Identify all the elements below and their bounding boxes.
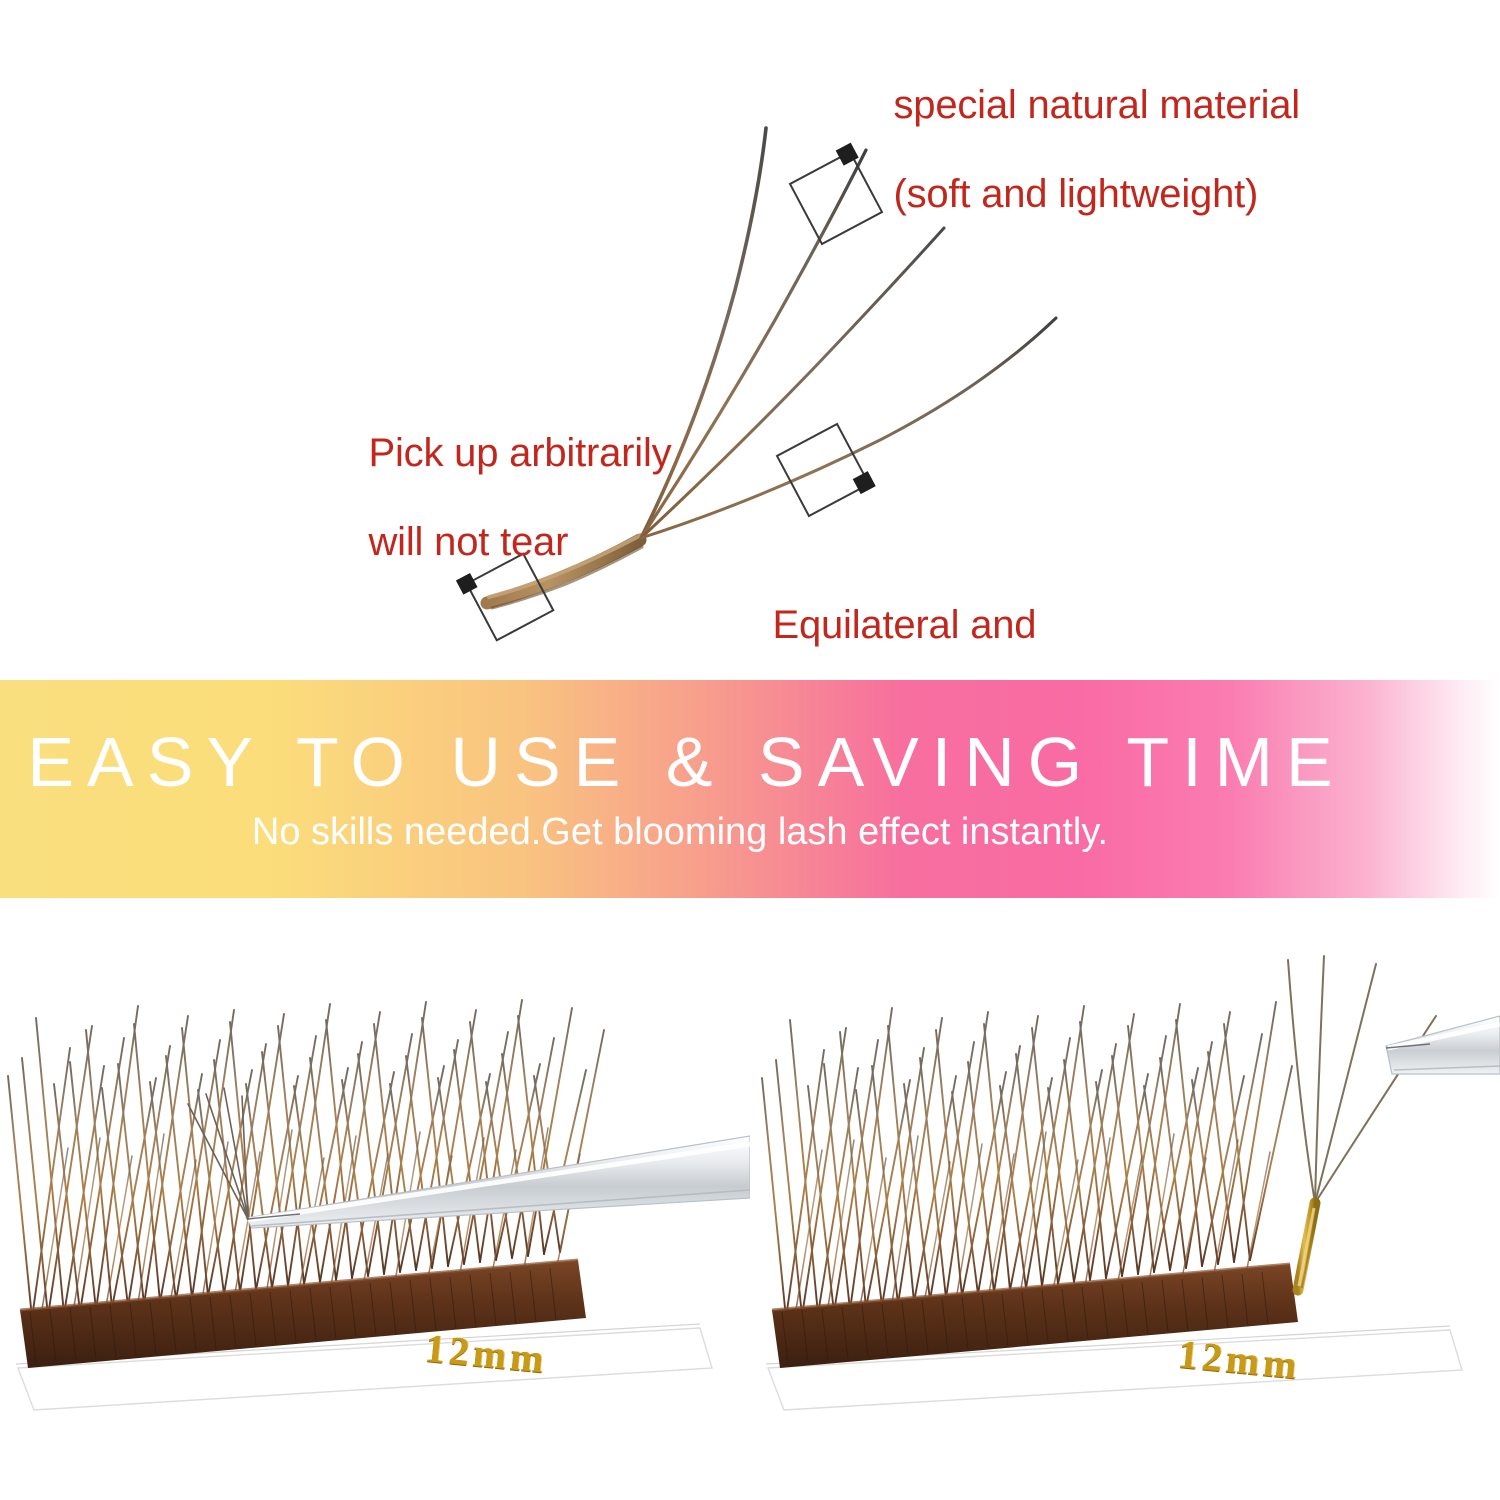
- banner-text-block: EASY TO USE & SAVING TIME No skills need…: [0, 680, 1360, 898]
- banner-subtitle: No skills needed.Get blooming lash effec…: [252, 813, 1108, 851]
- tweezers-right: [1386, 1016, 1500, 1074]
- lash-tray-left-illustration: [0, 898, 750, 1500]
- callout-special-natural-material: special natural material (soft and light…: [828, 38, 1300, 262]
- detached-lash-fan: [1288, 956, 1436, 1290]
- lash-tray-right-illustration: [750, 898, 1500, 1500]
- banner-headline: EASY TO USE & SAVING TIME: [14, 727, 1345, 797]
- callout-pickup-line2: will not tear: [368, 520, 568, 564]
- photo-lash-tray-with-tweezers: [0, 898, 750, 1500]
- callout-material-line1: special natural material: [893, 83, 1300, 127]
- product-infographic: special natural material (soft and light…: [0, 0, 1500, 1500]
- callout-pick-up-arbitrarily: Pick up arbitrarily will not tear: [303, 386, 671, 610]
- callout-material-line2: (soft and lightweight): [893, 172, 1258, 216]
- lash-fiber-diagram-section: special natural material (soft and light…: [0, 0, 1500, 680]
- callout-pickup-line1: Pick up arbitrarily: [368, 431, 671, 475]
- easy-to-use-banner: EASY TO USE & SAVING TIME No skills need…: [0, 680, 1500, 898]
- callout-equilateral-line1: Equilateral and: [772, 603, 1036, 647]
- callout-marker-equilateral: [777, 422, 876, 521]
- product-photo-section: [0, 898, 1500, 1500]
- photo-lash-tray-with-detached-fan: [750, 898, 1500, 1500]
